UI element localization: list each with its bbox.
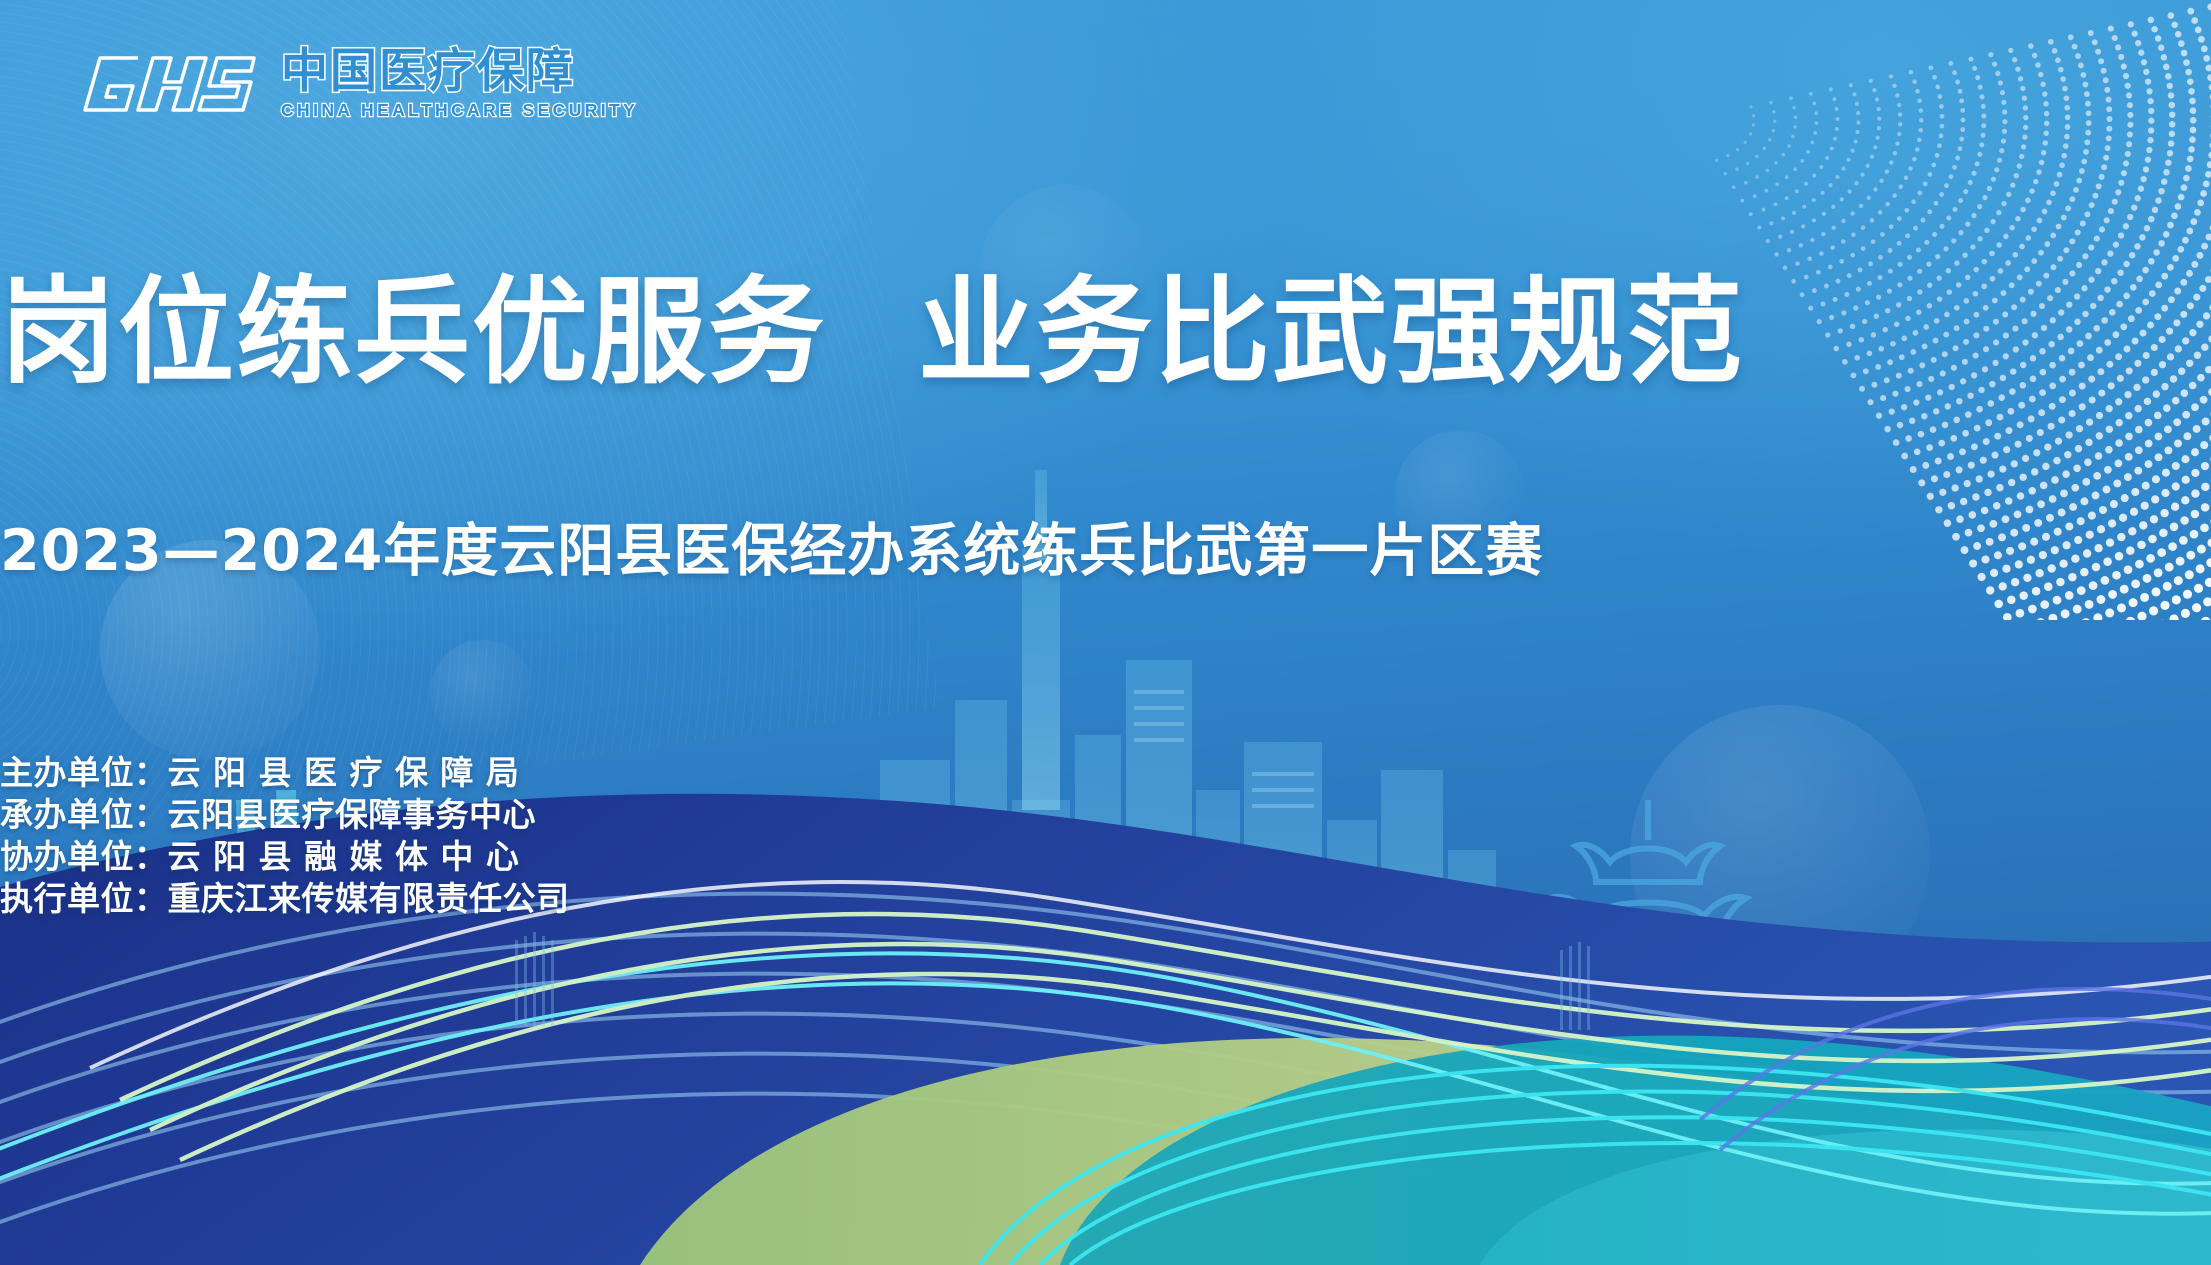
organizer-name: 重庆江来传媒有限责任公司 (168, 879, 570, 918)
organizer-list: 主办单位：云 阳 县 医 疗 保 障 局 承办单位：云阳县医疗保障事务中心 协办… (0, 752, 2211, 920)
bokeh-circle (430, 640, 535, 745)
chs-monogram-icon (78, 49, 263, 119)
organizer-row: 协办单位：云 阳 县 融 媒 体 中 心 (0, 836, 2211, 878)
background-art (0, 0, 2211, 1265)
organizer-role: 主办单位： (0, 753, 168, 792)
teal-wave (1060, 1036, 2211, 1265)
headline-right: 业务比武强规范 (918, 265, 1744, 400)
poster-canvas: 中国医疗保障 CHINA HEALTHCARE SECURITY 岗位练兵优服务… (0, 0, 2211, 1265)
chs-logo: 中国医疗保障 CHINA HEALTHCARE SECURITY (78, 48, 638, 120)
tech-stripe-blocks (515, 932, 1590, 1030)
teal-wave-front (1480, 1129, 2211, 1265)
organizer-name: 云阳县医疗保障事务中心 (168, 795, 537, 834)
organizer-row: 承办单位：云阳县医疗保障事务中心 (0, 794, 2211, 836)
deep-wave-lines (0, 894, 2211, 1265)
page-subtitle: 2023—2024年度云阳县医保经办系统练兵比武第一片区赛 (0, 505, 2211, 587)
organizer-row: 主办单位：云 阳 县 医 疗 保 障 局 (0, 752, 2211, 794)
organizer-name: 云 阳 县 医 疗 保 障 局 (168, 753, 520, 792)
olive-ribbon (640, 1038, 2211, 1265)
page-title: 岗位练兵优服务业务比武强规范 (0, 238, 2211, 406)
hairline-texture (0, 0, 940, 882)
green-hill (0, 886, 1180, 1265)
organizer-role: 协办单位： (0, 837, 168, 876)
logo-english-text: CHINA HEALTHCARE SECURITY (281, 102, 638, 120)
cyan-ribbon-lines (0, 882, 2211, 1265)
headline-left: 岗位练兵优服务 (0, 265, 826, 400)
logo-chinese-text: 中国医疗保障 (281, 48, 638, 95)
organizer-role: 承办单位： (0, 795, 168, 834)
organizer-name: 云 阳 县 融 媒 体 中 心 (168, 837, 520, 876)
organizer-row: 执行单位：重庆江来传媒有限责任公司 (0, 878, 2211, 920)
organizer-role: 执行单位： (0, 879, 168, 918)
